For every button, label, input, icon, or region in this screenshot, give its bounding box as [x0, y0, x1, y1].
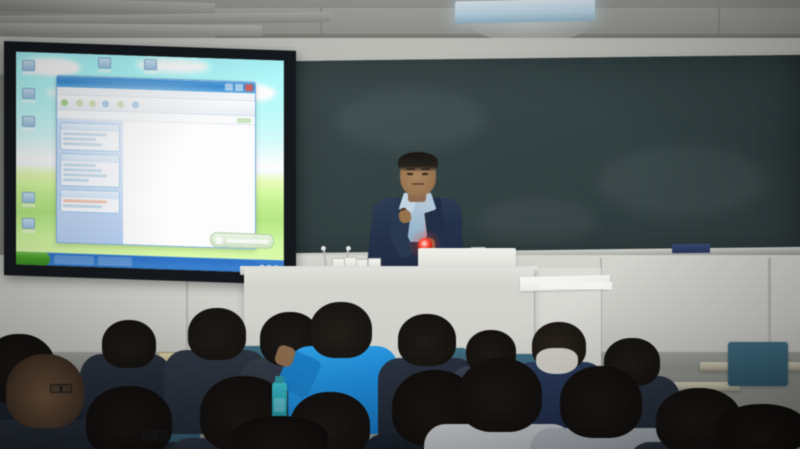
- lecturer-eye-right: [422, 173, 428, 175]
- osd-indicator-icon: [215, 236, 223, 244]
- lecturer-eye-left: [407, 173, 413, 175]
- taskbar-item-1[interactable]: [54, 255, 94, 265]
- lecture-hall-photo: [0, 0, 800, 449]
- task-link-highlighted[interactable]: [63, 199, 107, 203]
- desktop-icon-shortcut[interactable]: [98, 57, 111, 72]
- ceiling-seam-3: [718, 8, 720, 39]
- projector-osd-overlay: [210, 232, 274, 249]
- file-explorer-window[interactable]: [56, 75, 256, 250]
- desktop-icon-my-computer[interactable]: [22, 60, 35, 75]
- task-panel-2[interactable]: [60, 153, 120, 188]
- student-head: [232, 416, 328, 449]
- microphone-head-2: [346, 246, 351, 251]
- app-icon: [144, 59, 157, 70]
- taskbar-item-2[interactable]: [98, 256, 132, 266]
- ceiling-light-fixture: [455, 0, 595, 23]
- go-button[interactable]: [237, 117, 251, 122]
- task-panel-3[interactable]: [60, 189, 120, 214]
- eyeglasses: [142, 430, 168, 437]
- task-link[interactable]: [63, 132, 107, 136]
- student-head: [6, 354, 84, 428]
- my-documents-icon: [22, 88, 35, 99]
- task-panel-2-body: [61, 161, 119, 187]
- task-link[interactable]: [63, 137, 96, 141]
- folder-icon: [22, 218, 35, 229]
- task-link[interactable]: [63, 163, 96, 167]
- toolbar-forward-button[interactable]: [76, 99, 83, 106]
- task-panel-1-body: [61, 130, 119, 151]
- close-button[interactable]: [245, 84, 253, 91]
- student-head: [188, 308, 246, 360]
- minimize-button[interactable]: [225, 83, 233, 90]
- paper-stack-secondary[interactable]: [540, 280, 612, 289]
- desktop-icon-app[interactable]: [144, 59, 157, 74]
- up-arrow-icon: [89, 99, 96, 106]
- back-arrow-icon: [61, 99, 68, 106]
- desktop-icon-my-documents[interactable]: [22, 88, 35, 103]
- student-head: [716, 404, 800, 449]
- desktop-icon-folder[interactable]: [22, 218, 35, 233]
- glasses-lens-left: [142, 430, 155, 440]
- eyeglasses: [50, 384, 72, 391]
- student-hood: [536, 348, 578, 374]
- search-icon: [102, 100, 109, 107]
- my-computer-icon: [22, 60, 35, 71]
- student-head: [458, 358, 542, 432]
- explorer-content-pane[interactable]: [123, 121, 255, 249]
- shortcut-icon: [98, 57, 111, 68]
- toolbar-search-button[interactable]: [102, 100, 111, 107]
- student-head: [560, 366, 642, 438]
- glasses-lens-right: [61, 384, 72, 393]
- toolbar-views-button[interactable]: [132, 101, 139, 108]
- toolbar-up-button[interactable]: [89, 99, 96, 106]
- bottle-cap: [275, 376, 284, 383]
- start-button[interactable]: [16, 252, 50, 266]
- task-panel-1[interactable]: [60, 122, 120, 152]
- glasses-lens-right: [155, 430, 168, 440]
- glasses-lens-left: [50, 384, 61, 393]
- network-icon: [22, 116, 35, 127]
- lecture-chair[interactable]: [728, 342, 788, 386]
- desktop-icon-recycle-bin[interactable]: [22, 192, 35, 207]
- task-link[interactable]: [63, 142, 102, 146]
- blackboard-eraser: [672, 244, 710, 253]
- lecturer-mouth: [412, 183, 424, 185]
- task-panel-3-body: [61, 197, 119, 213]
- views-icon: [132, 101, 139, 108]
- window-body: [57, 119, 255, 250]
- lecturer-hair: [398, 152, 438, 172]
- student-head: [398, 314, 456, 366]
- student-head: [102, 320, 156, 368]
- toolbar-folders-button[interactable]: [117, 100, 126, 107]
- projection-screen-surface: [16, 52, 284, 274]
- desktop-icon-network[interactable]: [22, 116, 35, 131]
- toolbar-back-button[interactable]: [61, 99, 70, 106]
- task-link[interactable]: [63, 168, 102, 172]
- maximize-button[interactable]: [235, 84, 243, 91]
- microphone-head-1: [321, 246, 326, 251]
- bottle-label: [274, 398, 285, 412]
- folders-icon: [117, 100, 124, 107]
- recycle-bin-icon: [22, 192, 35, 203]
- task-link[interactable]: [63, 173, 107, 177]
- audience: [0, 300, 800, 449]
- task-link[interactable]: [63, 204, 102, 208]
- student-head: [310, 302, 372, 358]
- task-link[interactable]: [63, 178, 89, 182]
- explorer-task-sidebar: [57, 119, 123, 247]
- forward-arrow-icon: [76, 99, 83, 106]
- projection-screen[interactable]: [4, 41, 296, 285]
- window-title: [59, 81, 223, 86]
- ceiling-beam-right: [0, 23, 262, 36]
